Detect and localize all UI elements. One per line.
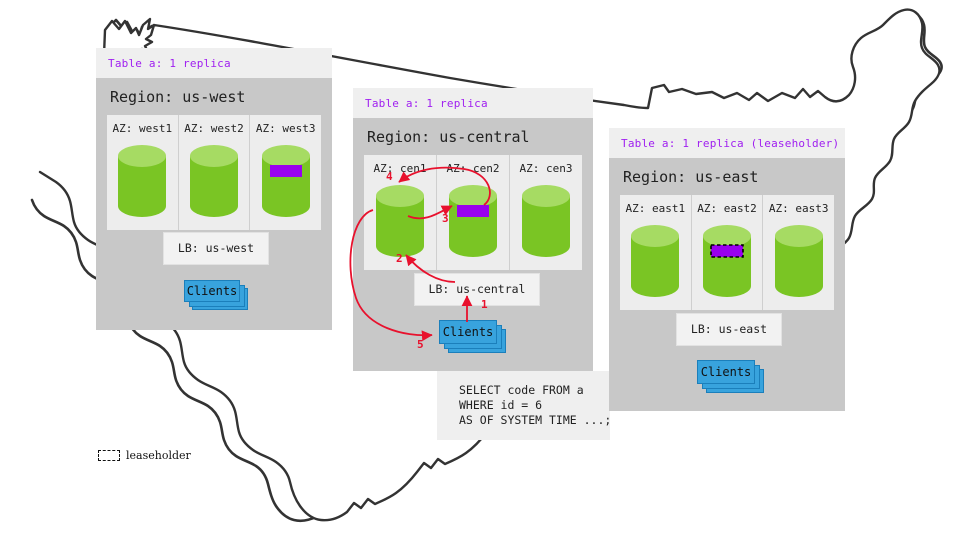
leaseholder-swatch-icon [98,450,120,461]
az-label-cen1: AZ: cen1 [364,162,436,175]
az-cell-cen3[interactable]: AZ: cen3 [510,155,582,270]
region-header-us-west: Table a: 1 replica [96,48,332,78]
clients-button-us-east[interactable]: Clients [697,360,755,384]
sql-line-1: SELECT code FROM a [459,383,584,397]
az-row-us-east: AZ: east1 AZ: east2 [620,195,834,310]
load-balancer-us-east[interactable]: LB: us-east [677,314,781,345]
database-cylinder-icon [188,144,240,218]
diagram-canvas: Table a: 1 replica Region: us-west AZ: w… [0,0,960,540]
db-node-cen2[interactable] [437,184,509,258]
clients-us-east[interactable]: Clients [697,360,763,394]
sql-line-3: AS OF SYSTEM TIME ...; [459,413,611,427]
legend-label: leaseholder [126,449,191,462]
replica-marker-east2-leaseholder [711,245,743,257]
clients-us-west[interactable]: Clients [184,280,246,312]
region-header-us-central: Table a: 1 replica [353,88,593,118]
az-row-us-central: AZ: cen1 AZ: cen2 [364,155,582,270]
az-label-west2: AZ: west2 [179,122,250,135]
database-cylinder-icon [520,184,572,258]
clients-us-central[interactable]: Clients [439,320,505,354]
az-label-cen2: AZ: cen2 [437,162,509,175]
load-balancer-us-west[interactable]: LB: us-west [164,233,268,264]
legend: leaseholder [98,449,191,462]
db-node-west2[interactable] [179,144,250,218]
db-node-cen1[interactable] [364,184,436,258]
region-title-us-west: Region: us-west [96,78,332,115]
az-cell-east3[interactable]: AZ: east3 [763,195,834,310]
database-cylinder-icon [260,144,312,218]
database-cylinder-icon [374,184,426,258]
az-row-us-west: AZ: west1 AZ: west2 AZ: [107,115,321,230]
replica-marker-west3 [270,165,302,177]
region-header-us-east: Table a: 1 replica (leaseholder) [609,128,845,158]
region-panel-us-east: Table a: 1 replica (leaseholder) Region:… [609,128,845,411]
database-cylinder-icon [629,224,681,298]
az-cell-west1[interactable]: AZ: west1 [107,115,179,230]
load-balancer-us-central[interactable]: LB: us-central [415,274,539,305]
db-node-east2[interactable] [692,224,763,298]
db-node-east3[interactable] [763,224,834,298]
sql-line-2: WHERE id = 6 [459,398,542,412]
replica-marker-cen2 [457,205,489,217]
az-label-east1: AZ: east1 [620,202,691,215]
region-title-us-central: Region: us-central [353,118,593,155]
region-panel-us-central: Table a: 1 replica Region: us-central AZ… [353,88,593,371]
region-title-us-east: Region: us-east [609,158,845,195]
db-node-west1[interactable] [107,144,178,218]
database-cylinder-icon [116,144,168,218]
db-node-cen3[interactable] [510,184,582,258]
az-cell-cen2[interactable]: AZ: cen2 [437,155,510,270]
az-cell-west3[interactable]: AZ: west3 [250,115,321,230]
az-cell-cen1[interactable]: AZ: cen1 [364,155,437,270]
database-cylinder-icon [701,224,753,298]
database-cylinder-icon [447,184,499,258]
az-label-west3: AZ: west3 [250,122,321,135]
clients-button-us-west[interactable]: Clients [184,280,240,302]
az-label-east3: AZ: east3 [763,202,834,215]
sql-query-box: SELECT code FROM a WHERE id = 6 AS OF SY… [437,371,610,440]
clients-button-us-central[interactable]: Clients [439,320,497,344]
az-cell-east2[interactable]: AZ: east2 [692,195,764,310]
db-node-west3[interactable] [250,144,321,218]
az-cell-west2[interactable]: AZ: west2 [179,115,251,230]
az-label-cen3: AZ: cen3 [510,162,582,175]
region-panel-us-west: Table a: 1 replica Region: us-west AZ: w… [96,48,332,330]
az-cell-east1[interactable]: AZ: east1 [620,195,692,310]
az-label-east2: AZ: east2 [692,202,763,215]
db-node-east1[interactable] [620,224,691,298]
az-label-west1: AZ: west1 [107,122,178,135]
database-cylinder-icon [773,224,825,298]
